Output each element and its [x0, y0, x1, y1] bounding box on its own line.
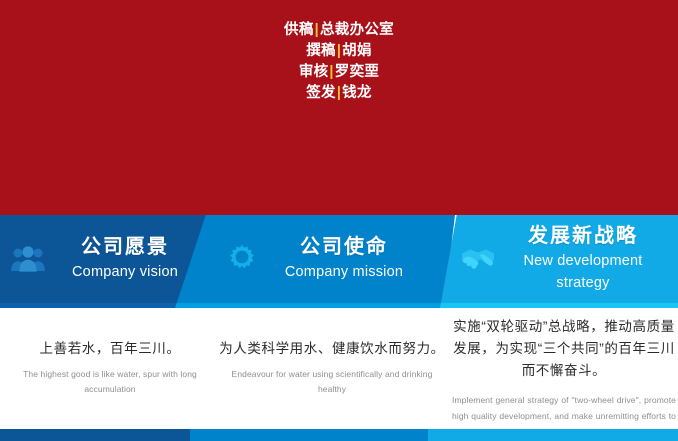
content-text-en: Endeavour for water using scientifically…	[218, 367, 446, 397]
content-text-en: The highest good is like water, spur wit…	[6, 367, 214, 397]
content-column-mission: 为人类科学用水、健康饮水而努力。 Endeavour for water usi…	[218, 338, 446, 397]
credit-label: 审核	[299, 64, 329, 80]
bottom-accent-segment-3	[428, 429, 678, 441]
banner-title-en: Company vision	[48, 261, 202, 283]
content-column-vision: 上善若水，百年三川。 The highest good is like wate…	[6, 338, 214, 397]
credit-value: 罗奕垔	[335, 64, 379, 80]
content-text-cn: 为人类科学用水、健康饮水而努力。	[218, 338, 446, 359]
banner-text-strategy: 发展新战略 New development strategy	[498, 224, 674, 294]
banner-strip: 公司愿景 Company vision 公司使命 Company mission	[0, 215, 678, 308]
banner-title-cn: 公司愿景	[48, 235, 202, 259]
content-area: 上善若水，百年三川。 The highest good is like wate…	[0, 308, 678, 425]
credit-line-reviewer: 审核|罗奕垔	[0, 62, 678, 83]
content-text-cn: 上善若水，百年三川。	[6, 338, 214, 359]
credit-line-issuer: 签发|钱龙	[0, 83, 678, 104]
bottom-accent-bar	[0, 429, 678, 441]
red-header-panel: 供稿|总裁办公室 撰稿|胡娟 审核|罗奕垔 签发|钱龙	[0, 0, 678, 215]
banner-title-en: New development strategy	[498, 250, 668, 294]
slide-page: 供稿|总裁办公室 撰稿|胡娟 审核|罗奕垔 签发|钱龙	[0, 0, 678, 441]
content-text-cn: 实施“双轮驱动”总战略，推动高质量发展，为实现“三个共同”的百年三川而不懈奋斗。	[452, 316, 676, 382]
banner-section-vision: 公司愿景 Company vision	[8, 215, 208, 303]
banner-text-mission: 公司使命 Company mission	[262, 235, 432, 283]
credit-label: 撰稿	[306, 43, 336, 59]
content-column-strategy: 实施“双轮驱动”总战略，推动高质量发展，为实现“三个共同”的百年三川而不懈奋斗。…	[452, 316, 676, 440]
gear-icon	[222, 239, 262, 279]
credit-label: 供稿	[284, 22, 314, 38]
banner-section-strategy: 发展新战略 New development strategy	[458, 215, 674, 303]
people-group-icon	[8, 239, 48, 279]
credit-value: 总裁办公室	[320, 22, 394, 38]
bottom-accent-segment-2	[190, 429, 428, 441]
handshake-icon	[458, 239, 498, 279]
credit-value: 钱龙	[342, 85, 372, 101]
banner-title-cn: 公司使命	[262, 235, 426, 259]
banner-section-mission: 公司使命 Company mission	[222, 215, 432, 303]
credit-line-contributor: 供稿|总裁办公室	[0, 20, 678, 41]
banner-title-en: Company mission	[262, 261, 426, 283]
credit-line-writer: 撰稿|胡娟	[0, 41, 678, 62]
banner-title-cn: 发展新战略	[498, 224, 668, 248]
bottom-accent-segment-1	[0, 429, 190, 441]
credits-block: 供稿|总裁办公室 撰稿|胡娟 审核|罗奕垔 签发|钱龙	[0, 20, 678, 104]
banner-text-vision: 公司愿景 Company vision	[48, 235, 208, 283]
credit-value: 胡娟	[342, 43, 372, 59]
credit-label: 签发	[306, 85, 336, 101]
